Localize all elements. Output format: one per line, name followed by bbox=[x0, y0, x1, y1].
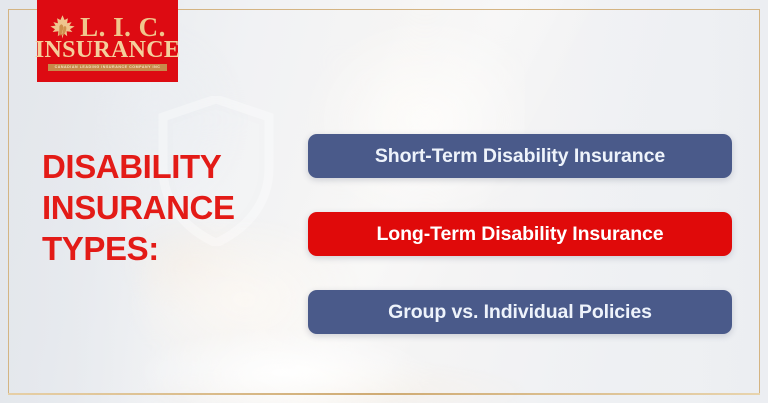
logo-tagline: CANADIAN LEADING INSURANCE COMPANY INC bbox=[48, 64, 167, 71]
page-title: DISABILITY INSURANCE TYPES: bbox=[42, 146, 292, 269]
disability-insurance-banner: L. I. C. INSURANCE CANADIAN LEADING INSU… bbox=[0, 0, 768, 403]
logo-brand-insurance: INSURANCE bbox=[35, 38, 180, 62]
lic-insurance-logo[interactable]: L. I. C. INSURANCE CANADIAN LEADING INSU… bbox=[37, 0, 178, 82]
pill-long-term-disability-insurance[interactable]: Long-Term Disability Insurance bbox=[308, 212, 732, 256]
insurance-type-list: Short-Term Disability Insurance Long-Ter… bbox=[308, 134, 732, 334]
headline-line-3: TYPES: bbox=[42, 228, 292, 269]
headline-line-2: INSURANCE bbox=[42, 187, 292, 228]
headline-line-1: DISABILITY bbox=[42, 146, 292, 187]
pill-short-term-disability-insurance[interactable]: Short-Term Disability Insurance bbox=[308, 134, 732, 178]
pill-group-vs-individual-policies[interactable]: Group vs. Individual Policies bbox=[308, 290, 732, 334]
